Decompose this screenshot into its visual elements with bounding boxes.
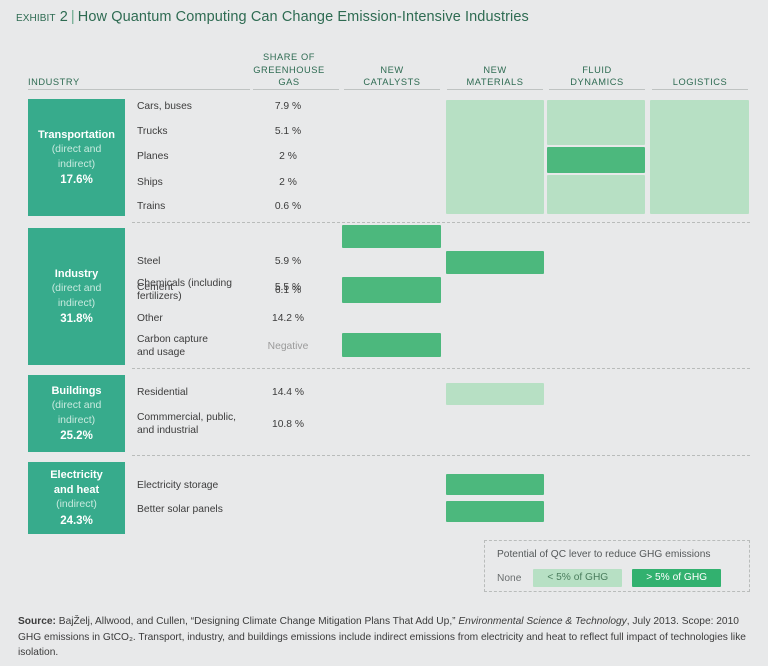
group-sub-electricity-line1: (indirect) xyxy=(56,497,97,512)
row-label-commercial-line1: Commmercial, public, xyxy=(137,412,236,425)
cell-transportation-fluid-dynamics-planes[interactable] xyxy=(547,147,645,173)
row-label-commercial: Commmercial, public, and industrial xyxy=(137,412,236,437)
page-title: Exhibit 2|How Quantum Computing Can Chan… xyxy=(16,9,529,25)
column-header-catalysts-line2: CATALYSTS xyxy=(343,76,441,89)
footer-line1-b: , July 2013. xyxy=(627,616,679,627)
group-sub-industry-line2: indirect) xyxy=(58,296,95,311)
separator-transportation-industry xyxy=(132,222,750,223)
row-label-commercial-line2: and industrial xyxy=(137,425,236,438)
group-block-electricity[interactable]: Electricity and heat (indirect) 24.3% xyxy=(28,462,125,534)
legend-title: Potential of QC lever to reduce GHG emis… xyxy=(497,549,710,560)
row-label-planes: Planes xyxy=(137,151,168,164)
legend-items: None < 5% of GHG > 5% of GHG xyxy=(497,569,721,587)
column-header-materials: NEW MATERIALS xyxy=(446,64,544,89)
footer-source-label: Source: xyxy=(18,616,56,627)
row-label-steel: Steel xyxy=(137,256,160,269)
row-value-trains: 0.6 % xyxy=(252,201,324,212)
cell-electricity-solar-new-materials[interactable] xyxy=(446,501,544,522)
column-header-logistics-line1: LOGISTICS xyxy=(651,76,749,89)
header-rule-catalysts xyxy=(344,89,440,90)
row-label-chemicals-line2: fertilizers) xyxy=(137,291,232,304)
header-rule-materials xyxy=(447,89,543,90)
row-label-carbon-capture: Carbon capture and usage xyxy=(137,334,208,359)
row-label-ships: Ships xyxy=(137,177,163,190)
column-header-fluid-line1: FLUID xyxy=(548,64,646,77)
group-block-transportation[interactable]: Transportation (direct and indirect) 17.… xyxy=(28,99,125,216)
group-block-buildings[interactable]: Buildings (direct and indirect) 25.2% xyxy=(28,375,125,452)
row-value-carbon-capture: Negative xyxy=(252,341,324,352)
row-value-planes: 2 % xyxy=(252,151,324,162)
cell-transportation-logistics[interactable] xyxy=(650,100,749,214)
row-label-other: Other xyxy=(137,313,163,326)
group-name-transportation: Transportation xyxy=(38,128,115,143)
group-percent-electricity: 24.3% xyxy=(60,514,93,529)
cell-electricity-storage-new-materials[interactable] xyxy=(446,474,544,495)
row-label-carbon-capture-line1: Carbon capture xyxy=(137,334,208,347)
column-header-fluid: FLUID DYNAMICS xyxy=(548,64,646,89)
row-label-trains: Trains xyxy=(137,201,165,214)
title-separator: | xyxy=(71,9,75,25)
cell-transportation-new-materials[interactable] xyxy=(446,100,544,214)
row-label-electricity-storage: Electricity storage xyxy=(137,480,218,493)
group-name-buildings: Buildings xyxy=(51,384,101,399)
row-label-chemicals-line1: Chemicals (including xyxy=(137,278,232,291)
exhibit-label: Exhibit 2 xyxy=(16,9,68,25)
column-header-logistics: LOGISTICS xyxy=(651,76,749,89)
row-value-cars-buses: 7.9 % xyxy=(252,101,324,112)
column-header-fluid-line2: DYNAMICS xyxy=(548,76,646,89)
header-rule-share xyxy=(253,89,339,90)
group-percent-industry: 31.8% xyxy=(60,312,93,327)
column-header-catalysts: NEW CATALYSTS xyxy=(343,64,441,89)
legend-none-label: None xyxy=(497,573,523,584)
row-label-carbon-capture-line2: and usage xyxy=(137,347,208,360)
footer-line1-a: BajŽelj, Allwood, and Cullen, “Designing… xyxy=(56,616,458,627)
title-text: How Quantum Computing Can Change Emissio… xyxy=(78,9,529,25)
legend-chip-high[interactable]: > 5% of GHG xyxy=(632,569,721,587)
group-sub-industry-line1: (direct and xyxy=(52,281,102,296)
group-sub-transportation-line2: indirect) xyxy=(58,157,95,172)
separator-industry-buildings xyxy=(132,368,750,369)
cell-transportation-fluid-dynamics-lower[interactable] xyxy=(547,175,645,214)
row-value-trucks: 5.1 % xyxy=(252,126,324,137)
group-sub-transportation-line1: (direct and xyxy=(52,142,102,157)
row-value-ships: 2 % xyxy=(252,177,324,188)
column-header-share-line2: GREENHOUSE xyxy=(240,64,338,77)
separator-buildings-electricity xyxy=(132,455,750,456)
group-name-industry: Industry xyxy=(55,267,98,282)
header-rule-logistics xyxy=(652,89,748,90)
cell-transportation-fluid-dynamics-upper[interactable] xyxy=(547,100,645,145)
group-block-industry[interactable]: Industry (direct and indirect) 31.8% xyxy=(28,228,125,365)
group-percent-buildings: 25.2% xyxy=(60,429,93,444)
row-label-better-solar-panels: Better solar panels xyxy=(137,504,223,517)
cell-industry-cement-new-materials[interactable] xyxy=(446,251,544,274)
column-header-industry: INDUSTRY xyxy=(28,76,128,89)
column-header-share-line3: GAS xyxy=(240,76,338,89)
cell-buildings-residential-new-materials[interactable] xyxy=(446,383,544,405)
cell-industry-steel-new-catalysts[interactable] xyxy=(342,225,441,248)
column-header-materials-line1: NEW xyxy=(446,64,544,77)
row-label-chemicals: Chemicals (including fertilizers) xyxy=(137,278,232,303)
column-header-catalysts-line1: NEW xyxy=(343,64,441,77)
group-name-electricity-line2: and heat xyxy=(54,483,99,498)
row-label-residential: Residential xyxy=(137,387,188,400)
group-sub-buildings-line1: (direct and xyxy=(52,398,102,413)
column-header-materials-line2: MATERIALS xyxy=(446,76,544,89)
legend: Potential of QC lever to reduce GHG emis… xyxy=(484,540,750,592)
row-label-trucks: Trucks xyxy=(137,126,168,139)
cell-industry-chemicals-new-catalysts[interactable] xyxy=(342,277,441,303)
group-sub-buildings-line2: indirect) xyxy=(58,413,95,428)
row-label-cars-buses: Cars, buses xyxy=(137,101,192,114)
row-value-commercial: 10.8 % xyxy=(252,419,324,430)
row-value-chemicals: 6.1 % xyxy=(252,285,324,296)
row-value-steel: 5.9 % xyxy=(252,256,324,267)
group-percent-transportation: 17.6% xyxy=(60,173,93,188)
header-rule-fluid xyxy=(549,89,645,90)
header-rule-industry xyxy=(28,89,250,90)
footer-source: Source: BajŽelj, Allwood, and Cullen, “D… xyxy=(18,614,748,661)
footer-journal-name: Environmental Science & Technology xyxy=(458,616,626,627)
row-value-other: 14.2 % xyxy=(252,313,324,324)
column-header-share-line1: SHARE OF xyxy=(240,51,338,64)
column-header-share: SHARE OF GREENHOUSE GAS xyxy=(240,51,338,89)
cell-industry-carbon-capture-new-catalysts[interactable] xyxy=(342,333,441,357)
legend-chip-low[interactable]: < 5% of GHG xyxy=(533,569,622,587)
group-name-electricity-line1: Electricity xyxy=(50,468,103,483)
row-value-residential: 14.4 % xyxy=(252,387,324,398)
